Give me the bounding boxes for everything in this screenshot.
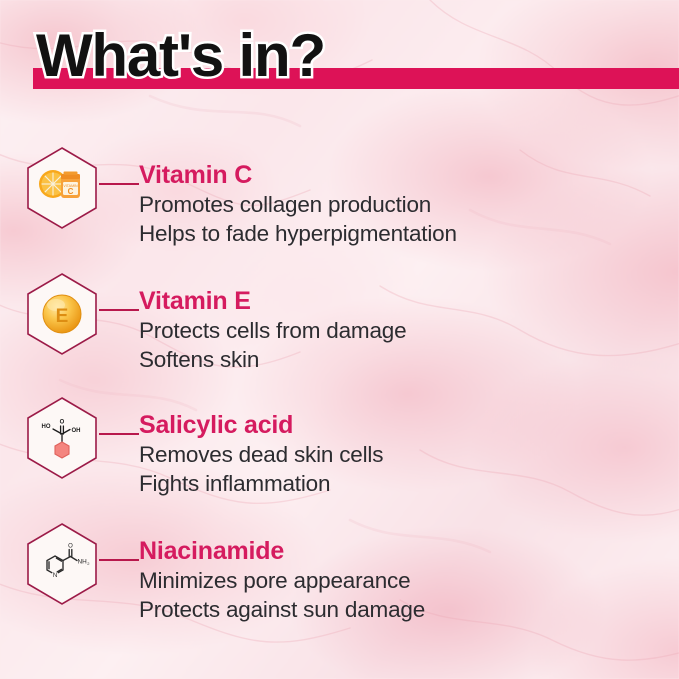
svg-text:O: O bbox=[68, 544, 73, 550]
salicylic-acid-badge: HO O OH bbox=[25, 396, 99, 480]
ingredient-name: Vitamin C bbox=[139, 162, 457, 188]
connector-line-niacinamide bbox=[99, 522, 139, 564]
ingredient-benefit: Protects against sun damage bbox=[139, 596, 425, 625]
ingredient-name: Niacinamide bbox=[139, 538, 425, 564]
ingredient-row-vitamin-e: E Vitamin E Protects cells from damage S… bbox=[0, 272, 406, 375]
svg-text:OH: OH bbox=[72, 428, 81, 434]
svg-text:O: O bbox=[60, 420, 65, 426]
ingredient-name: Vitamin E bbox=[139, 288, 406, 314]
ingredient-benefit: Fights inflammation bbox=[139, 470, 383, 499]
page-title: What's in? bbox=[36, 21, 325, 90]
svg-text:C: C bbox=[68, 187, 74, 196]
ingredient-row-vitamin-c: VITAMIN C Vitamin C Promotes collagen pr… bbox=[0, 146, 457, 249]
vitamin-c-badge: VITAMIN C bbox=[25, 146, 99, 230]
vitamin-e-softgel-capsule-icon: E bbox=[25, 272, 99, 356]
connector-line-vitamin-e bbox=[99, 272, 139, 314]
ingredient-name: Salicylic acid bbox=[139, 412, 383, 438]
vitamin-c-text-block: Vitamin C Promotes collagen production H… bbox=[139, 162, 457, 249]
ingredient-benefit: Promotes collagen production bbox=[139, 191, 457, 220]
niacinamide-molecule-icon: O NH 2 N bbox=[25, 522, 99, 606]
orange-slice-and-vitamin-jar-icon: VITAMIN C bbox=[25, 146, 99, 230]
svg-text:N: N bbox=[53, 572, 58, 579]
ingredients-infographic-poster: What's in? bbox=[0, 0, 679, 679]
vitamin-e-badge: E bbox=[25, 272, 99, 356]
niacinamide-text-block: Niacinamide Minimizes pore appearance Pr… bbox=[139, 538, 425, 625]
ingredient-row-niacinamide: O NH 2 N Niacinamide Minimizes pore appe… bbox=[0, 522, 425, 625]
svg-text:E: E bbox=[56, 306, 69, 327]
svg-text:NH: NH bbox=[78, 559, 88, 566]
ingredient-benefit: Helps to fade hyperpigmentation bbox=[139, 220, 457, 249]
niacinamide-badge: O NH 2 N bbox=[25, 522, 99, 606]
ingredient-benefit: Removes dead skin cells bbox=[139, 441, 383, 470]
ingredient-benefit: Minimizes pore appearance bbox=[139, 567, 425, 596]
connector-line-salicylic-acid bbox=[99, 396, 139, 438]
connector-line-vitamin-c bbox=[99, 146, 139, 188]
salicylic-acid-text-block: Salicylic acid Removes dead skin cells F… bbox=[139, 412, 383, 499]
salicylic-acid-molecule-icon: HO O OH bbox=[25, 396, 99, 480]
ingredient-row-salicylic-acid: HO O OH Salicylic acid Removes dead skin… bbox=[0, 396, 383, 499]
ingredient-benefit: Protects cells from damage bbox=[139, 317, 406, 346]
svg-text:HO: HO bbox=[42, 424, 51, 430]
vitamin-e-text-block: Vitamin E Protects cells from damage Sof… bbox=[139, 288, 406, 375]
ingredient-benefit: Softens skin bbox=[139, 346, 406, 375]
